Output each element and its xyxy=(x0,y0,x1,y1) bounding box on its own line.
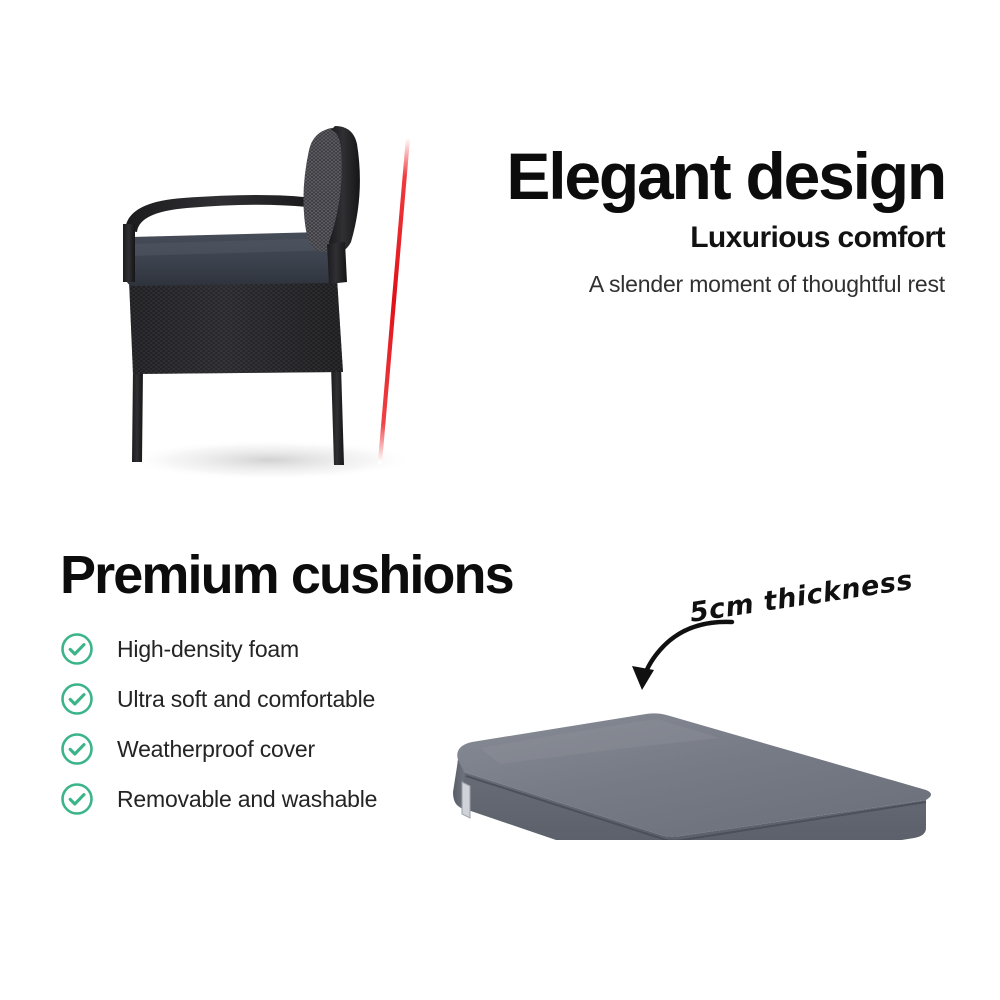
list-item-label: Ultra soft and comfortable xyxy=(117,686,375,713)
check-circle-icon xyxy=(60,632,94,666)
red-accent-line xyxy=(380,138,408,462)
chair-product-image xyxy=(95,110,475,490)
headline-tagline: A slender moment of thoughtful rest xyxy=(430,270,945,300)
page-title: Elegant design xyxy=(430,143,945,209)
check-circle-icon xyxy=(60,782,94,816)
check-circle-icon xyxy=(60,682,94,716)
thickness-callout-label: 5cm thickness xyxy=(688,557,970,629)
headline-block: Elegant design Luxurious comfort A slend… xyxy=(430,143,945,300)
chair-armrest xyxy=(125,195,333,232)
list-item-label: Removable and washable xyxy=(117,786,377,813)
cushion-zipper-pull xyxy=(462,782,470,818)
headline-subtitle: Luxurious comfort xyxy=(430,223,945,253)
list-item-label: High-density foam xyxy=(117,636,299,663)
features-title: Premium cushions xyxy=(60,548,660,602)
check-circle-icon xyxy=(60,732,94,766)
chair-floor-shadow xyxy=(125,440,415,480)
chair-armrest-post xyxy=(123,224,135,282)
list-item-label: Weatherproof cover xyxy=(117,736,315,763)
chair-back-post xyxy=(327,242,347,284)
chair-seat-frame-shade xyxy=(129,278,343,374)
chair-front-leg xyxy=(132,368,143,462)
